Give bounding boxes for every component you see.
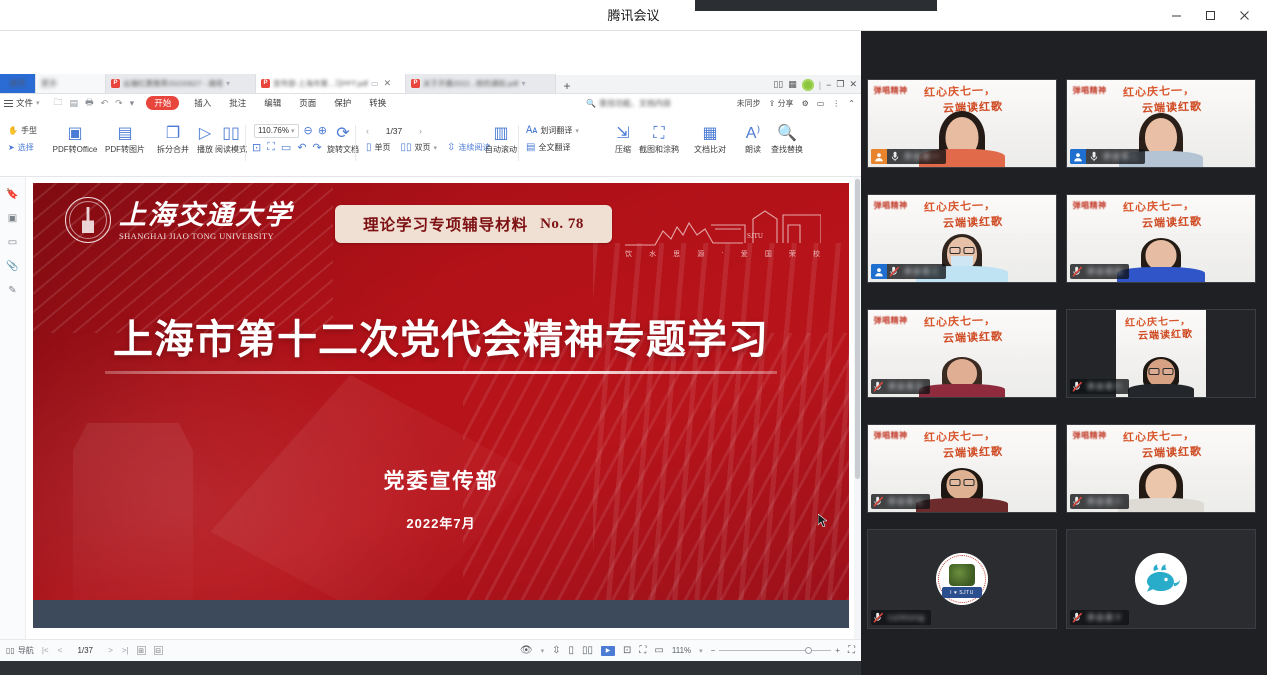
crop-icon[interactable]: ⛶ bbox=[267, 141, 275, 154]
minimize-button[interactable] bbox=[1159, 3, 1193, 29]
sync-status-label[interactable]: 未同步 bbox=[737, 98, 761, 109]
full-translate-label: 全文翻译 bbox=[538, 142, 570, 153]
microphone-muted-icon bbox=[871, 379, 886, 394]
poster-line-2: 云端读红歌 bbox=[1137, 325, 1192, 342]
poster-line-2: 云端读红歌 bbox=[1142, 443, 1203, 461]
pdf-tab-home[interactable]: 首页 bbox=[0, 74, 36, 93]
hand-icon: ✋ bbox=[8, 126, 18, 135]
select-tool-button[interactable]: ➤ 选择 bbox=[6, 140, 39, 155]
hamburger-icon bbox=[4, 100, 13, 107]
prev-page-button[interactable]: < bbox=[58, 646, 63, 655]
pdf-to-image-button[interactable]: ▤ PDF转图片 bbox=[102, 125, 148, 155]
attachment-icon[interactable]: 📎 bbox=[6, 261, 18, 272]
scrollbar-thumb[interactable] bbox=[855, 179, 860, 479]
participant-tile[interactable]: 弹唱精神 红心庆七一， 云端读红歌 bbox=[867, 194, 1057, 283]
tab-dropdown-icon[interactable]: ▾ bbox=[521, 79, 525, 88]
auto-scroll-icon: ▥ bbox=[493, 125, 508, 143]
pdf-slide-page: 上海交通大学 SHANGHAI JIAO TONG UNIVERSITY 理论学… bbox=[33, 183, 849, 628]
slide-footer-band bbox=[33, 600, 849, 628]
zoom-level-value: 110.76% bbox=[258, 126, 289, 135]
microphone-muted-icon bbox=[1070, 379, 1085, 394]
page-indicator: 1/37 bbox=[379, 126, 409, 136]
doc-compare-button[interactable]: ▦ 文档比对 bbox=[687, 125, 733, 155]
search-icon: 🔍 bbox=[777, 125, 797, 143]
participant-name: 参会者七 bbox=[886, 496, 930, 507]
pdf-file-icon: P bbox=[111, 79, 120, 88]
microphone-icon bbox=[887, 149, 902, 164]
sjtu-badge-icon: I ♥ SJTU bbox=[936, 553, 988, 605]
slide-header-pill: 理论学习专项辅导材料 No. 78 bbox=[335, 205, 612, 243]
file-menu-label: 文件 bbox=[16, 97, 33, 109]
rotate-document-icon: ⟳ bbox=[336, 125, 349, 143]
zoom-slider-knob[interactable] bbox=[805, 647, 812, 654]
fullscreen-icon[interactable]: ⛶ bbox=[848, 645, 855, 656]
pdf-tab-label: 云端红票推荐20220627 - 通用 bbox=[123, 78, 223, 89]
maximize-button[interactable] bbox=[1193, 3, 1227, 29]
poster-line-2: 云端读红歌 bbox=[943, 213, 1004, 231]
participant-tile[interactable]: 弹唱精神 红心庆七一， 云端读红歌 参会者八 bbox=[1066, 424, 1256, 513]
shared-screen-area: 首页 更多 P 云端红票推荐20220627 - 通用 ▾ P 宣传部-上海市第… bbox=[0, 31, 861, 675]
slide-date: 2022年7月 bbox=[33, 513, 849, 532]
microphone-muted-icon bbox=[871, 610, 886, 625]
navigation-icon: ▯▯ bbox=[6, 646, 15, 655]
single-page-label: 单页 bbox=[375, 142, 391, 153]
participant-tile[interactable]: 弹唱精神 红心庆七一， 云端读红歌 参会者四 bbox=[1066, 194, 1256, 283]
ribbon-tab-annotate[interactable]: 批注 bbox=[226, 96, 249, 110]
collapse-ribbon-icon[interactable]: ⌃ bbox=[848, 99, 855, 108]
zoom-out-icon[interactable]: ⊖ bbox=[304, 124, 313, 137]
status-zoom-percent: 111% bbox=[672, 646, 691, 655]
comment-icon[interactable]: ▭ bbox=[817, 99, 825, 108]
last-page-button[interactable]: >| bbox=[122, 646, 129, 655]
settings-gear-icon[interactable]: ⚙ bbox=[802, 99, 809, 108]
search-icon: 🔍 bbox=[586, 99, 596, 108]
university-name-cn: 上海交通大学 bbox=[119, 200, 293, 230]
fit-width-icon[interactable]: ⊡ bbox=[623, 645, 631, 656]
pdf-tab-label: 首页 bbox=[10, 78, 26, 89]
more-icon[interactable]: ▾ bbox=[130, 98, 135, 109]
host-badge-icon bbox=[871, 149, 887, 164]
participant-nametag: 参会者七 bbox=[871, 494, 930, 509]
poster-line-2: 云端读红歌 bbox=[943, 328, 1004, 346]
screenshot-draw-label: 截图和涂鸦 bbox=[639, 144, 679, 155]
pdf-restore-button[interactable]: ❐ bbox=[836, 79, 844, 90]
rotate-left-icon[interactable]: ↶ bbox=[297, 141, 306, 154]
avatar bbox=[1135, 553, 1187, 605]
slide-header: 上海交通大学 SHANGHAI JIAO TONG UNIVERSITY 理论学… bbox=[33, 191, 849, 261]
select-tool-label: 选择 bbox=[18, 142, 34, 153]
pdf-to-office-button[interactable]: ▣ PDF转Office bbox=[52, 125, 98, 155]
participant-nametag: 参会者四 bbox=[1070, 264, 1129, 279]
grid-view-icon[interactable]: ▦ bbox=[788, 79, 797, 90]
zoom-slider[interactable] bbox=[719, 650, 831, 651]
person-badge-icon bbox=[1070, 149, 1086, 164]
read-aloud-label: 朗读 bbox=[745, 144, 761, 155]
microphone-icon bbox=[1086, 149, 1101, 164]
comment-icon[interactable]: ▭ bbox=[8, 237, 17, 248]
user-avatar-icon[interactable] bbox=[802, 79, 814, 91]
pdf-minimize-button[interactable]: − bbox=[826, 80, 831, 90]
continuous-read-icon: ⇳ bbox=[447, 142, 455, 153]
prev-page-button[interactable]: ‹ bbox=[366, 126, 369, 136]
double-page-icon: ▯▯ bbox=[401, 142, 412, 153]
participant-name: 参会者一 bbox=[902, 151, 946, 162]
participant-name: 参会者八 bbox=[1085, 496, 1129, 507]
pdf-tab-label: 宣传部-上海市第...习PPT.pdf bbox=[273, 78, 368, 89]
ribbon-tab-edit[interactable]: 编辑 bbox=[261, 96, 284, 110]
ribbon-right-actions: 未同步 ⇪ 分享 ⚙ ▭ ⋮ ⌃ bbox=[737, 94, 855, 112]
university-seal-icon bbox=[65, 197, 111, 243]
shared-content: 首页 更多 P 云端红票推荐20220627 - 通用 ▾ P 宣传部-上海市第… bbox=[0, 31, 861, 644]
participant-nametag: 参会者六 bbox=[1070, 379, 1129, 394]
participant-name: 参会者六 bbox=[1085, 381, 1129, 392]
print-icon[interactable]: 🖶 bbox=[85, 95, 94, 111]
hand-tool-label: 手型 bbox=[21, 125, 37, 136]
pdf-to-office-icon: ▣ bbox=[67, 125, 82, 143]
file-menu-button[interactable]: 文件 ▾ bbox=[4, 97, 40, 109]
background-window-edge bbox=[695, 0, 937, 11]
quick-access-toolbar: 🗀 ▤ 🖶 ↶ ↷ ▾ bbox=[54, 95, 135, 111]
save-icon[interactable]: ▤ bbox=[70, 98, 79, 109]
chevron-down-icon[interactable]: ▾ bbox=[541, 647, 545, 655]
participant-name: 参会者二 bbox=[1101, 151, 1145, 162]
participant-nametag: 参会者五 bbox=[871, 379, 930, 394]
next-page-button[interactable]: > bbox=[108, 646, 113, 655]
doc-compare-icon: ▦ bbox=[702, 125, 717, 143]
meeting-titlebar: 腾讯会议 bbox=[0, 0, 1267, 31]
window-controls bbox=[1159, 0, 1261, 31]
university-motto: 饮 水 思 源 · 爱 国 荣 校 bbox=[625, 249, 821, 259]
pdf-menu-bar: 文件 ▾ 🗀 ▤ 🖶 ↶ ↷ ▾ 开始 插入 批注 编辑 页面 bbox=[0, 94, 861, 112]
screenshot-icon: ⛶ bbox=[653, 125, 664, 143]
more-vertical-icon[interactable]: ⋮ bbox=[832, 99, 840, 108]
full-translate-button[interactable]: ▤ 全文翻译 bbox=[524, 140, 581, 155]
read-mode-button[interactable]: ▯▯ 阅读模式 bbox=[208, 125, 254, 155]
close-button[interactable] bbox=[1227, 3, 1261, 29]
university-logo: 上海交通大学 SHANGHAI JIAO TONG UNIVERSITY bbox=[65, 197, 293, 243]
zoom-level-input[interactable]: 110.76% ▾ bbox=[254, 124, 299, 138]
word-translate-icon: 🗛 bbox=[526, 125, 537, 136]
pdf-page-viewport[interactable]: 上海交通大学 SHANGHAI JIAO TONG UNIVERSITY 理论学… bbox=[26, 177, 861, 644]
microphone-muted-icon bbox=[1070, 264, 1085, 279]
participant-tile[interactable]: 弹唱精神 红心庆七一， 云端读红歌 参会者一 bbox=[867, 79, 1057, 168]
pdf-tab-strip: 首页 更多 P 云端红票推荐20220627 - 通用 ▾ P 宣传部-上海市第… bbox=[0, 75, 861, 94]
ribbon-search[interactable]: 🔍 查找功能、文档内容 bbox=[586, 94, 671, 112]
participant-nametag: 参会者二 bbox=[1070, 149, 1145, 164]
microphone-muted-icon bbox=[1070, 610, 1085, 625]
campus-gate-artwork: SJTU bbox=[625, 205, 821, 251]
presentation-play-button[interactable]: ▶ bbox=[601, 646, 615, 656]
fit-page-icon[interactable]: ▭ bbox=[654, 645, 663, 656]
participant-name: 参会者十 bbox=[1085, 612, 1129, 623]
participant-nametag: 参会者八 bbox=[1070, 494, 1129, 509]
participant-name: 参会者五 bbox=[886, 381, 930, 392]
tab-close-icon[interactable]: ✕ bbox=[384, 78, 392, 89]
chevron-down-icon: ▾ bbox=[575, 127, 579, 135]
participant-tile[interactable]: 弹唱精神 红心庆七一， 云端读红歌 参会者二 bbox=[1066, 79, 1256, 168]
participant-tile[interactable]: I ♥ SJTU culmsng bbox=[867, 529, 1057, 629]
pdf-close-button[interactable]: ✕ bbox=[849, 79, 857, 90]
slide-texture-columns bbox=[593, 243, 849, 628]
ribbon-tab-protect[interactable]: 保护 bbox=[331, 96, 354, 110]
ribbon-tab-start[interactable]: 开始 bbox=[146, 96, 179, 110]
single-page-icon: ▯ bbox=[366, 142, 372, 153]
microphone-muted-icon bbox=[887, 264, 902, 279]
pdf-ribbon-toolbar: ✋ 手型 ➤ 选择 ▣ PDF转Office bbox=[0, 112, 861, 177]
bookmark-icon[interactable]: 🔖 bbox=[6, 189, 18, 200]
rotate-document-button[interactable]: ⟳ 旋转文档 bbox=[320, 125, 366, 155]
folder-icon[interactable]: 🗀 bbox=[54, 95, 63, 111]
material-number-label: No. 78 bbox=[540, 216, 584, 233]
fit-page-button[interactable]: ⊟ bbox=[154, 646, 163, 655]
pdf-tab-label: 关于开展2022...修的通知.pdf bbox=[423, 78, 518, 89]
undo-icon[interactable]: ↶ bbox=[101, 98, 109, 109]
double-page-icon[interactable]: ▯▯ bbox=[582, 645, 593, 656]
chevron-down-icon: ▾ bbox=[36, 99, 40, 107]
avatar: I ♥ SJTU bbox=[936, 553, 988, 605]
chevron-down-icon: ▾ bbox=[434, 144, 438, 152]
read-aloud-icon: A⁾ bbox=[746, 125, 761, 143]
search-placeholder: 查找功能、文档内容 bbox=[599, 98, 671, 109]
pdf-tab-document-3[interactable]: P 关于开展2022...修的通知.pdf ▾ bbox=[406, 74, 556, 93]
participant-name: 参会者四 bbox=[1085, 266, 1129, 277]
participant-tile[interactable]: 弹唱精神 红心庆七一， 云端读红歌 参会者五 bbox=[867, 309, 1057, 398]
participant-name: 参会者三 bbox=[902, 266, 946, 277]
participant-tile[interactable]: 参会者十 bbox=[1066, 529, 1256, 629]
ribbon-tab-convert[interactable]: 转换 bbox=[366, 96, 389, 110]
zoom-out-button[interactable]: − bbox=[711, 646, 716, 655]
slide-subtitle: 党委宣传部 bbox=[33, 465, 849, 495]
pdf-tab-blurred[interactable]: 更多 bbox=[36, 74, 106, 93]
next-page-button[interactable]: › bbox=[419, 126, 422, 136]
pdf-tab-document-2[interactable]: P 宣传部-上海市第...习PPT.pdf ▭ ✕ bbox=[256, 74, 406, 93]
navigation-pane-button[interactable]: ▯▯ 导航 bbox=[6, 645, 34, 656]
crop-icon[interactable]: ⛶ bbox=[639, 645, 646, 656]
pdf-tab-document-1[interactable]: P 云端红票推荐20220627 - 通用 ▾ bbox=[106, 74, 256, 93]
poster-line-2: 云端读红歌 bbox=[943, 443, 1004, 461]
participant-tile[interactable]: 红心庆七一， 云端读红歌 参会者六 bbox=[1066, 309, 1256, 398]
participant-nametag: 参会者三 bbox=[871, 264, 946, 279]
split-merge-icon: ❐ bbox=[166, 125, 180, 143]
single-page-button[interactable]: ▯ 单页 bbox=[366, 142, 391, 153]
view-mode-icon[interactable]: 👁 bbox=[520, 645, 533, 656]
pdf-window-controls: ▯▯ ▦ | − ❐ ✕ bbox=[773, 75, 857, 94]
letterbox-bar-right bbox=[1206, 310, 1255, 397]
split-view-icon[interactable]: ▯▯ bbox=[773, 79, 783, 90]
first-page-button[interactable]: |< bbox=[42, 646, 49, 655]
pdf-status-bar: ▯▯ 导航 |< < 1/37 > >| ⊞ ⊟ 👁 bbox=[0, 639, 861, 661]
navigation-label: 导航 bbox=[18, 645, 34, 656]
screen-root: 腾讯会议 首页 更多 P bbox=[0, 0, 1267, 675]
avatar-ribbon-label: I ♥ SJTU bbox=[942, 587, 982, 598]
university-name-en: SHANGHAI JIAO TONG UNIVERSITY bbox=[119, 231, 293, 241]
pdf-to-image-icon: ▤ bbox=[117, 125, 132, 143]
participant-tile[interactable]: 弹唱精神 红心庆七一， 云端读红歌 参会者七 bbox=[867, 424, 1057, 513]
screenshot-draw-button[interactable]: ⛶ 截图和涂鸦 bbox=[636, 125, 682, 155]
thumbnail-icon[interactable]: ▣ bbox=[8, 213, 17, 224]
tab-pin-icon[interactable]: ▭ bbox=[371, 79, 379, 88]
fit-page-icon[interactable]: ▭ bbox=[281, 141, 291, 154]
doc-compare-label: 文档比对 bbox=[694, 144, 726, 155]
participant-figure bbox=[1123, 357, 1199, 397]
fit-width-button[interactable]: ⊞ bbox=[137, 646, 146, 655]
cursor-icon: ➤ bbox=[8, 143, 15, 152]
continuous-scroll-icon[interactable]: ⇳ bbox=[552, 645, 560, 656]
material-series-label: 理论学习专项辅导材料 bbox=[363, 213, 528, 235]
word-translate-button[interactable]: 🗛 划词翻译 ▾ bbox=[524, 123, 581, 138]
chevron-down-icon: ▾ bbox=[291, 127, 295, 135]
ribbon-tab-page[interactable]: 页面 bbox=[296, 96, 319, 110]
pdf-vertical-scrollbar[interactable] bbox=[854, 177, 861, 644]
double-page-label: 双页 bbox=[415, 142, 431, 153]
zoom-in-button[interactable]: + bbox=[835, 646, 840, 655]
redo-icon[interactable]: ↷ bbox=[115, 98, 123, 109]
app-title: 腾讯会议 bbox=[0, 0, 1267, 31]
signature-icon[interactable]: ✎ bbox=[8, 285, 16, 296]
find-replace-label: 查找替换 bbox=[771, 144, 803, 155]
hand-tool-button[interactable]: ✋ 手型 bbox=[6, 123, 39, 138]
participant-name: culmsng bbox=[886, 613, 931, 622]
whale-avatar-icon bbox=[1135, 553, 1187, 605]
status-page-indicator: 1/37 bbox=[71, 646, 99, 655]
word-translate-label: 划词翻译 bbox=[540, 125, 572, 136]
read-mode-label: 阅读模式 bbox=[215, 144, 247, 155]
full-translate-icon: ▤ bbox=[526, 142, 535, 153]
double-page-button[interactable]: ▯▯ 双页 ▾ bbox=[401, 142, 438, 153]
participant-grid: 弹唱精神 红心庆七一， 云端读红歌 参会者一 bbox=[861, 31, 1267, 675]
participant-nametag: 参会者十 bbox=[1070, 610, 1129, 625]
compress-icon: ⇲ bbox=[616, 125, 629, 143]
share-bottom-bar bbox=[0, 661, 861, 675]
new-tab-button[interactable]: + bbox=[556, 79, 578, 93]
svg-text:SJTU: SJTU bbox=[747, 232, 763, 240]
slide-title-rule bbox=[105, 371, 777, 374]
ribbon-tab-insert[interactable]: 插入 bbox=[191, 96, 214, 110]
single-page-icon[interactable]: ▯ bbox=[568, 645, 574, 656]
person-badge-icon bbox=[871, 264, 887, 279]
pdf-side-rail: 🔖 ▣ ▭ 📎 ✎ bbox=[0, 177, 26, 644]
slide-main-title: 上海市第十二次党代会精神专题学习 bbox=[33, 307, 849, 365]
pdf-tab-label: 更多 bbox=[41, 78, 57, 89]
pdf-to-image-label: PDF转图片 bbox=[105, 144, 145, 155]
poster-line-2: 云端读红歌 bbox=[1142, 213, 1203, 231]
pdf-file-icon: P bbox=[261, 79, 270, 88]
compress-label: 压缩 bbox=[615, 144, 631, 155]
find-replace-button[interactable]: 🔍 查找替换 bbox=[764, 125, 810, 155]
ribbon-tabs: 开始 插入 批注 编辑 页面 保护 转换 bbox=[146, 96, 389, 110]
book-icon: ▯▯ bbox=[222, 125, 240, 143]
share-button[interactable]: ⇪ 分享 bbox=[769, 98, 794, 109]
microphone-muted-icon bbox=[1070, 494, 1085, 509]
auto-scroll-label: 自动滚动 bbox=[485, 144, 517, 155]
fit-width-icon[interactable]: ⊡ bbox=[252, 141, 261, 154]
pdf-file-icon: P bbox=[411, 79, 420, 88]
microphone-muted-icon bbox=[871, 494, 886, 509]
chevron-down-icon[interactable]: ▾ bbox=[699, 647, 703, 655]
participant-nametag: culmsng bbox=[871, 610, 931, 625]
pdf-to-office-label: PDF转Office bbox=[53, 144, 98, 155]
tab-dropdown-icon[interactable]: ▾ bbox=[226, 79, 230, 88]
participant-nametag: 参会者一 bbox=[871, 149, 946, 164]
